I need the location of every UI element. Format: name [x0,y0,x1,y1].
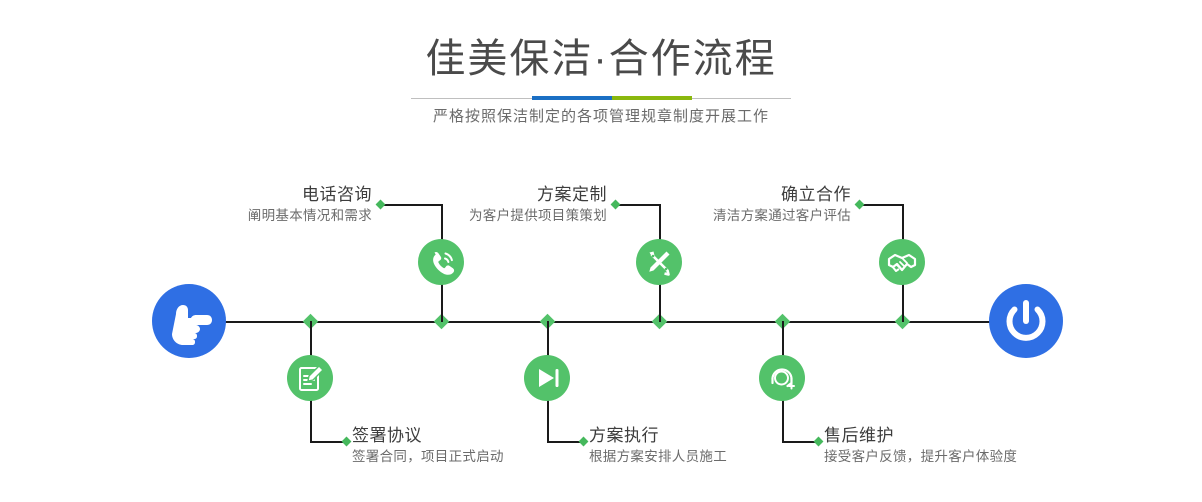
step-desc-6: 接受客户反馈，提升客户体验度 [824,447,1114,467]
step-node-3[interactable] [636,239,682,285]
step-desc-3: 为客户提供项目策策划 [340,206,607,226]
step-label-4: 方案执行 根据方案安排人员施工 [589,425,849,467]
step-node-5[interactable] [879,239,925,285]
title-divider [411,96,791,100]
handshake-icon [879,239,925,285]
step-node-4[interactable] [524,355,570,401]
step-label-6: 售后维护 接受客户反馈，提升客户体验度 [824,425,1114,467]
flow-diagram-canvas: 佳美保洁·合作流程 严格按照保洁制定的各项管理规章制度开展工作 [0,0,1202,502]
step-desc-2: 签署合同，项目正式启动 [352,447,612,467]
pencil-ruler-icon [636,239,682,285]
step-title-6: 售后维护 [824,425,1114,447]
step-title-4: 方案执行 [589,425,849,447]
step-desc-5: 清洁方案通过客户评估 [585,206,851,226]
play-skip-icon [524,355,570,401]
step-desc-4: 根据方案安排人员施工 [589,447,849,467]
document-edit-icon [287,355,333,401]
phone-call-icon [418,239,464,285]
headset-support-icon [759,355,805,401]
page-title: 佳美保洁·合作流程 [0,36,1202,82]
step-node-6[interactable] [759,355,805,401]
step-label-3: 方案定制 为客户提供项目策策划 [340,184,607,226]
step-label-2: 签署协议 签署合同，项目正式启动 [352,425,612,467]
step-title-1: 电话咨询 [117,184,372,206]
divider-blue-segment [532,96,612,100]
page-subtitle: 严格按照保洁制定的各项管理规章制度开展工作 [0,106,1202,128]
start-endcap [152,284,226,358]
step-node-1[interactable] [418,239,464,285]
step-label-5: 确立合作 清洁方案通过客户评估 [585,184,851,226]
step-node-2[interactable] [287,355,333,401]
end-endcap [989,284,1063,358]
label-marker-step-5 [855,200,865,210]
connector-horizontal-step-5 [860,204,903,206]
power-button-icon [989,284,1063,358]
divider-olive-segment [612,96,692,100]
step-title-2: 签署协议 [352,425,612,447]
step-title-5: 确立合作 [585,184,851,206]
step-desc-1: 阐明基本情况和需求 [117,206,372,226]
step-label-1: 电话咨询 阐明基本情况和需求 [117,184,372,226]
label-marker-step-2 [342,437,352,447]
pointing-hand-icon [152,284,226,358]
step-title-3: 方案定制 [340,184,607,206]
